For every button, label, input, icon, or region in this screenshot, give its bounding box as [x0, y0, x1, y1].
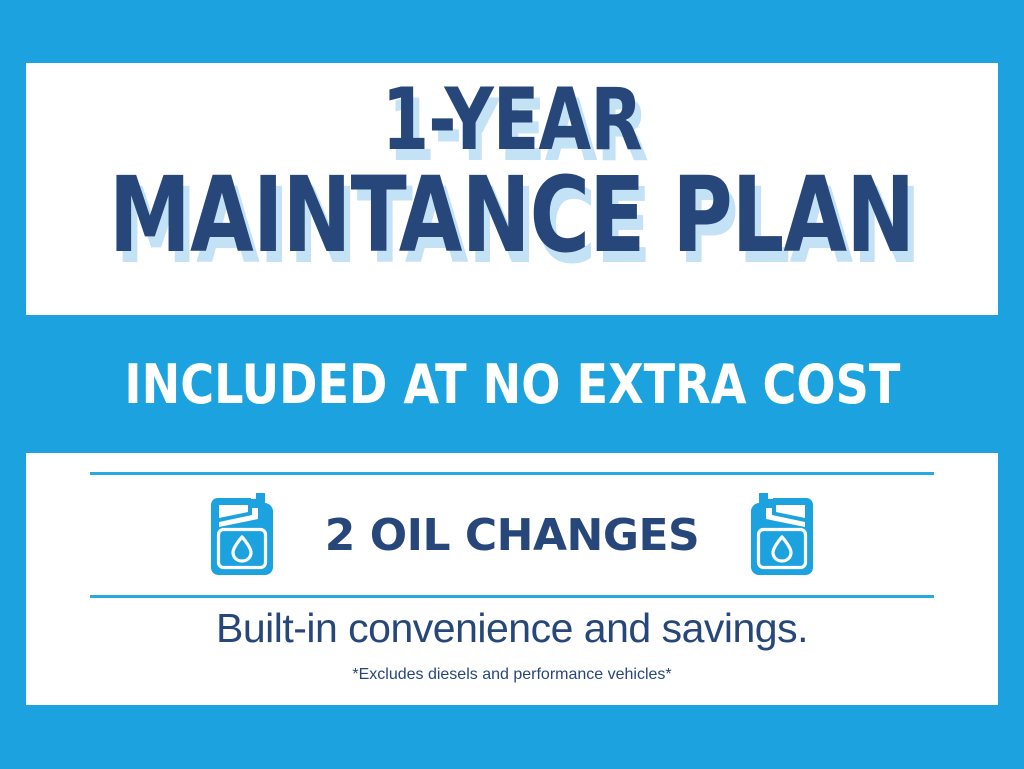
- detail-card: 2 OIL CHANGES Built-in convenience and s…: [26, 453, 998, 705]
- divider-bottom: [90, 595, 934, 598]
- oil-can-icon: [745, 491, 819, 579]
- subtitle-text: INCLUDED AT NO EXTRA COST: [124, 353, 900, 416]
- feature-row: 2 OIL CHANGES: [90, 475, 934, 595]
- headline-panel: 1-YEAR MAINTANCE PLAN: [26, 63, 998, 315]
- subtitle-band: INCLUDED AT NO EXTRA COST: [26, 315, 998, 453]
- headline-line-1: 1-YEAR: [382, 81, 642, 161]
- headline-line-2: MAINTANCE PLAN: [109, 167, 914, 264]
- tagline-text: Built-in convenience and savings.: [26, 605, 998, 652]
- fineprint-text: *Excludes diesels and performance vehicl…: [26, 666, 998, 684]
- promo-poster: 1-YEAR MAINTANCE PLAN INCLUDED AT NO EXT…: [0, 0, 1024, 769]
- oil-can-icon: [205, 491, 279, 579]
- feature-label: 2 OIL CHANGES: [325, 510, 699, 561]
